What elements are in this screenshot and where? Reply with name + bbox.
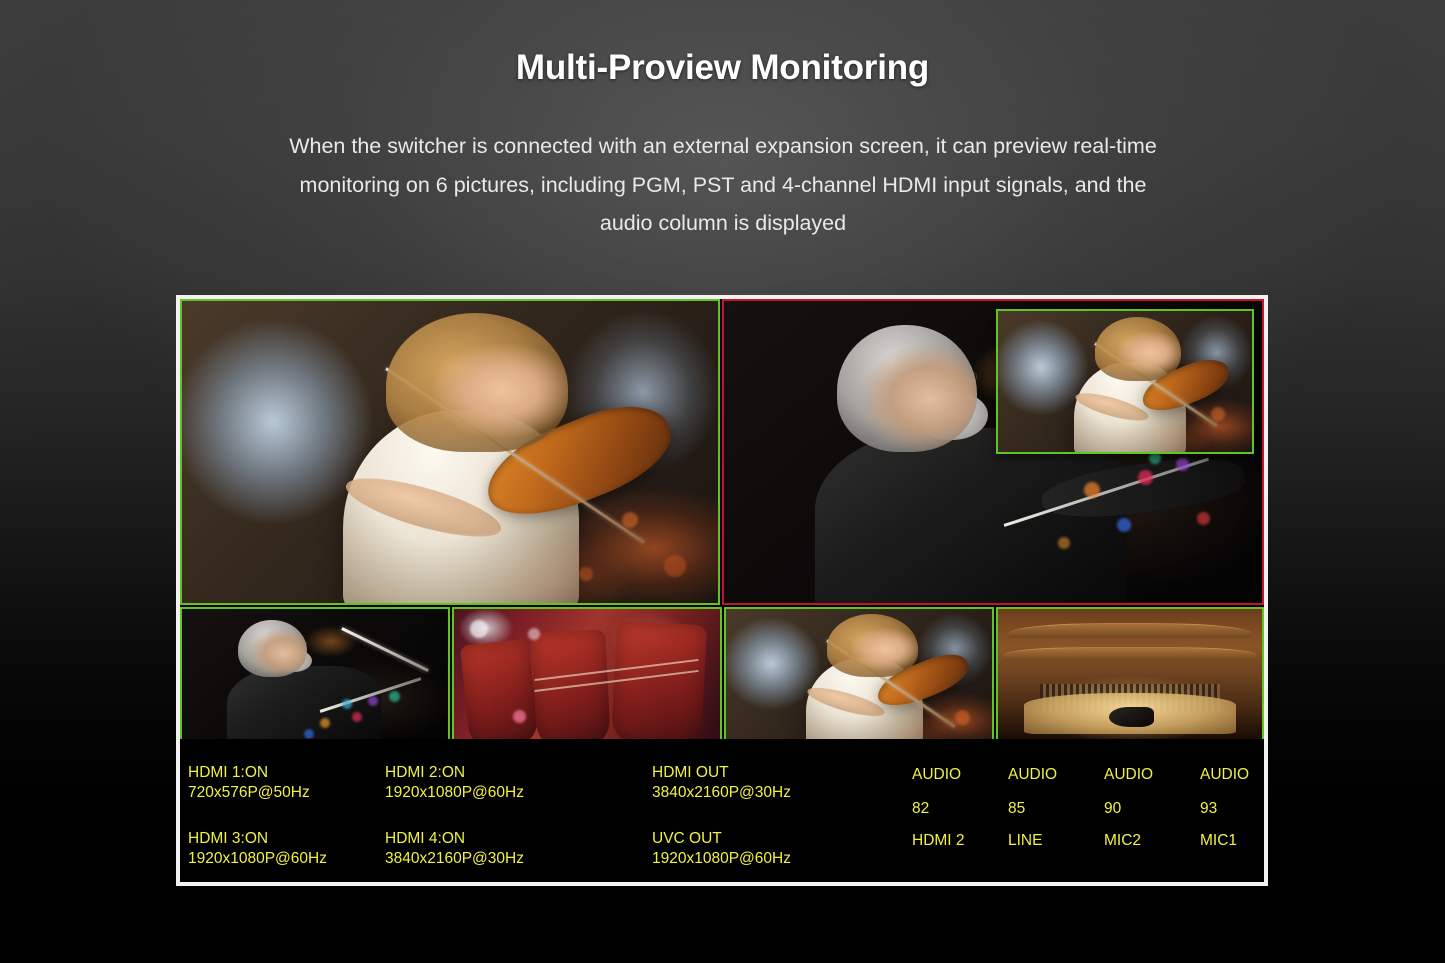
bokeh-dot [320, 718, 330, 728]
multiview-pip-inset[interactable] [996, 309, 1254, 454]
signal-title: HDMI 3:ON [188, 829, 327, 849]
audio-label: AUDIO [912, 765, 965, 785]
page-root: Multi-Proview Monitoring When the switch… [0, 0, 1445, 963]
hall-balcony [1003, 647, 1256, 661]
signal-title: HDMI 4:ON [385, 829, 524, 849]
bokeh-dot [1176, 458, 1189, 471]
audio-level: 90 [1104, 799, 1153, 819]
signal-resolution: 1920x1080P@60Hz [652, 849, 791, 869]
violin-body [474, 389, 682, 534]
multiview-tile-pst[interactable] [180, 299, 720, 605]
signal-resolution: 3840x2160P@30Hz [652, 783, 791, 803]
cello-body [531, 629, 611, 747]
multiview-thumb-hdmi1[interactable] [180, 607, 450, 747]
signal-title: HDMI 1:ON [188, 763, 310, 783]
signal-resolution: 1920x1080P@60Hz [385, 783, 524, 803]
signal-hdmi-2: HDMI 2:ON 1920x1080P@60Hz [385, 763, 524, 803]
page-description: When the switcher is connected with an e… [206, 127, 1240, 243]
conductor-beard [918, 392, 988, 440]
bokeh-dot [1117, 518, 1131, 532]
conductor-beard [278, 650, 313, 672]
signal-hdmi-1: HDMI 1:ON 720x576P@50Hz [188, 763, 310, 803]
description-line-2: monitoring on 6 pictures, including PGM,… [206, 166, 1240, 205]
scene-cellos [454, 609, 720, 745]
signal-title: HDMI 2:ON [385, 763, 524, 783]
signal-title: UVC OUT [652, 829, 791, 849]
conductor-glasses [918, 370, 977, 382]
scene-conductor-thumb [182, 609, 448, 745]
hall-balcony [1009, 623, 1252, 638]
conductor-arm [1039, 448, 1248, 528]
bokeh-dot [579, 567, 593, 581]
violinist-arm [1073, 388, 1151, 427]
scene-concert-hall [998, 609, 1262, 745]
violinist-arm [341, 467, 506, 549]
bokeh-dot [664, 555, 686, 577]
signal-uvc-out: UVC OUT 1920x1080P@60Hz [652, 829, 791, 869]
audio-source: MIC2 [1104, 831, 1153, 851]
violinist-arm [805, 683, 887, 722]
bokeh-dot [955, 710, 970, 725]
scene-violinist [182, 301, 718, 603]
multiview-thumb-hdmi2[interactable] [452, 607, 722, 747]
audio-channel-2: AUDIO 85 LINE [1008, 765, 1057, 851]
audio-level: 85 [1008, 799, 1057, 819]
description-line-1: When the switcher is connected with an e… [206, 127, 1240, 166]
audio-source: HDMI 2 [912, 831, 965, 851]
conductor-glasses [278, 640, 307, 645]
multiview-screen: HDMI 1:ON 720x576P@50Hz HDMI 2:ON 1920x1… [176, 295, 1268, 886]
bokeh-dot [513, 710, 526, 723]
page-title: Multi-Proview Monitoring [0, 48, 1445, 88]
signal-hdmi-out: HDMI OUT 3840x2160P@30Hz [652, 763, 791, 803]
multiview-thumb-hdmi3[interactable] [724, 607, 994, 747]
cello-body [459, 638, 539, 747]
bokeh-dot [352, 712, 362, 722]
audio-label: AUDIO [1200, 765, 1249, 785]
scene-violinist-thumb [726, 609, 992, 745]
bokeh-dot [1211, 407, 1225, 421]
signal-hdmi-3: HDMI 3:ON 1920x1080P@60Hz [188, 829, 327, 869]
signal-title: HDMI OUT [652, 763, 791, 783]
bokeh-dot [304, 729, 314, 739]
bokeh-dot [622, 512, 638, 528]
signal-hdmi-4: HDMI 4:ON 3840x2160P@30Hz [385, 829, 524, 869]
osd-info-bar: HDMI 1:ON 720x576P@50Hz HDMI 2:ON 1920x1… [180, 739, 1264, 882]
audio-label: AUDIO [1104, 765, 1153, 785]
audio-source: LINE [1008, 831, 1057, 851]
signal-resolution: 3840x2160P@30Hz [385, 849, 524, 869]
bokeh-dot [368, 696, 378, 706]
multiview-tile-pgm[interactable] [722, 299, 1264, 605]
scene-violinist-pip [998, 311, 1252, 452]
audio-level: 93 [1200, 799, 1249, 819]
bokeh-dot [470, 620, 488, 638]
conductor-baton-lower [320, 677, 422, 712]
bokeh-dot [342, 699, 352, 709]
bokeh-dot [389, 691, 400, 702]
hall-grand-piano [1109, 707, 1154, 727]
conductor-baton [341, 627, 428, 671]
audio-channel-3: AUDIO 90 MIC2 [1104, 765, 1153, 851]
signal-resolution: 720x576P@50Hz [188, 783, 310, 803]
multiview-canvas: HDMI 1:ON 720x576P@50Hz HDMI 2:ON 1920x1… [180, 299, 1264, 882]
audio-channel-4: AUDIO 93 MIC1 [1200, 765, 1249, 851]
bokeh-dot [278, 650, 289, 661]
audio-label: AUDIO [1008, 765, 1057, 785]
audio-channel-1: AUDIO 82 HDMI 2 [912, 765, 965, 851]
bokeh-dot [1197, 512, 1210, 525]
audio-level: 82 [912, 799, 965, 819]
audio-source: MIC1 [1200, 831, 1249, 851]
multiview-thumb-hdmi4[interactable] [996, 607, 1264, 747]
description-line-3: audio column is displayed [206, 204, 1240, 243]
cello-body [610, 620, 707, 747]
bokeh-dot [1058, 537, 1070, 549]
signal-resolution: 1920x1080P@60Hz [188, 849, 327, 869]
